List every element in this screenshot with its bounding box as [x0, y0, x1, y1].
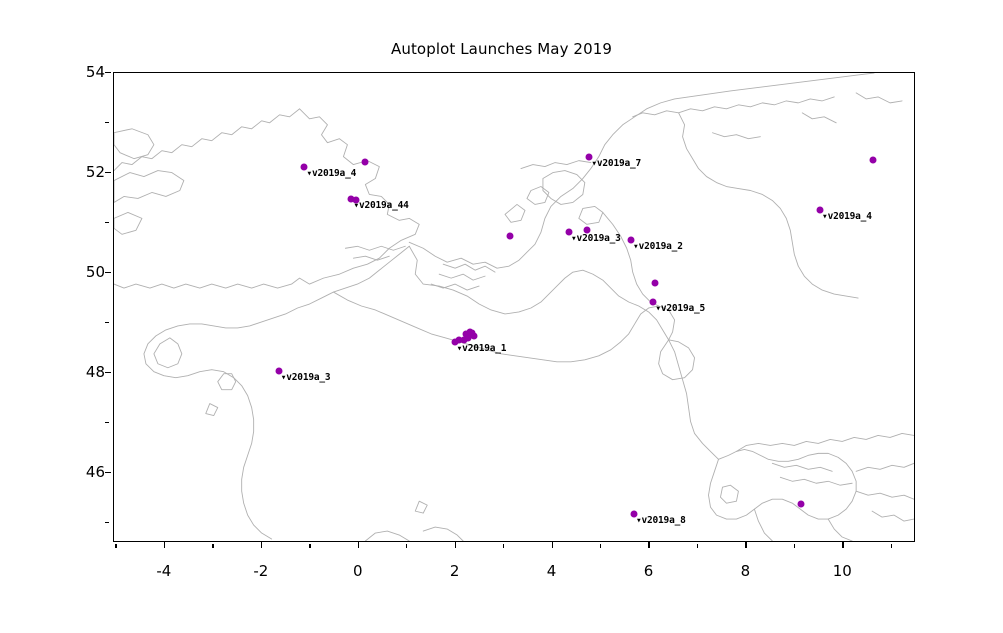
- data-point-marker[interactable]: [870, 156, 877, 163]
- x-tick-label: 10: [822, 562, 862, 580]
- x-tick-major: [745, 542, 746, 548]
- y-axis: 4648505254: [63, 72, 105, 542]
- y-tick-major: [105, 372, 111, 373]
- x-tick-major: [455, 542, 456, 548]
- x-tick-minor: [794, 544, 795, 548]
- y-tick-minor: [105, 222, 109, 223]
- x-tick-minor: [406, 544, 407, 548]
- chart-title: Autoplot Launches May 2019: [0, 40, 1003, 58]
- x-tick-minor: [697, 544, 698, 548]
- x-tick-minor: [212, 544, 213, 548]
- y-tick-major: [105, 472, 111, 473]
- data-point-label: ▾v2019a_2: [633, 241, 683, 252]
- data-point-label: ▾v2019a_1: [457, 343, 507, 354]
- data-point-marker[interactable]: [652, 280, 659, 287]
- y-tick-label: 46: [65, 463, 105, 481]
- y-tick-minor: [105, 422, 109, 423]
- data-point-marker[interactable]: [506, 232, 513, 239]
- data-point-marker[interactable]: [797, 501, 804, 508]
- data-point-marker[interactable]: [461, 337, 468, 344]
- x-tick-major: [552, 542, 553, 548]
- x-tick-label: 6: [628, 562, 668, 580]
- data-point-label: ▾v2019a_8: [636, 515, 686, 526]
- figure-canvas: Autoplot Launches May 2019: [0, 0, 1003, 633]
- x-tick-major: [164, 542, 165, 548]
- x-tick-minor: [309, 544, 310, 548]
- y-tick-minor: [105, 522, 109, 523]
- y-tick-major: [105, 272, 111, 273]
- x-tick-major: [261, 542, 262, 548]
- y-tick-label: 50: [65, 263, 105, 281]
- y-tick-label: 52: [65, 163, 105, 181]
- y-tick-minor: [105, 322, 109, 323]
- x-tick-label: 0: [338, 562, 378, 580]
- y-tick-label: 54: [65, 63, 105, 81]
- data-point-marker[interactable]: [361, 159, 368, 166]
- y-tick-minor: [105, 122, 109, 123]
- data-point-marker[interactable]: [353, 196, 360, 203]
- y-tick-major: [105, 72, 111, 73]
- x-tick-label: 8: [725, 562, 765, 580]
- data-point-label: ▾v2019a_3: [281, 372, 331, 383]
- data-point-label: ▾v2019a_3: [571, 233, 621, 244]
- data-point-label: ▾v2019a_4: [822, 211, 872, 222]
- data-point-label: ▾v2019a_4: [306, 168, 356, 179]
- x-tick-label: -2: [241, 562, 281, 580]
- data-point-label: ▾v2019a_5: [655, 303, 705, 314]
- x-tick-minor: [600, 544, 601, 548]
- data-point-label: ▾v2019a_44: [353, 200, 408, 211]
- plot-area[interactable]: ▾v2019a_4▾v2019a_44▾v2019a_7▾v2019a_4▾v2…: [113, 72, 915, 542]
- x-tick-label: 4: [532, 562, 572, 580]
- x-tick-minor: [115, 544, 116, 548]
- data-point-label: ▾v2019a_7: [591, 158, 641, 169]
- x-tick-minor: [503, 544, 504, 548]
- y-tick-major: [105, 172, 111, 173]
- x-tick-major: [358, 542, 359, 548]
- y-tick-label: 48: [65, 363, 105, 381]
- x-tick-major: [648, 542, 649, 548]
- basemap-coastlines: [114, 73, 914, 541]
- x-axis: -4-20246810: [113, 548, 915, 578]
- x-tick-minor: [891, 544, 892, 548]
- data-point-marker[interactable]: [584, 227, 591, 234]
- x-tick-major: [842, 542, 843, 548]
- x-tick-label: 2: [435, 562, 475, 580]
- x-tick-label: -4: [144, 562, 184, 580]
